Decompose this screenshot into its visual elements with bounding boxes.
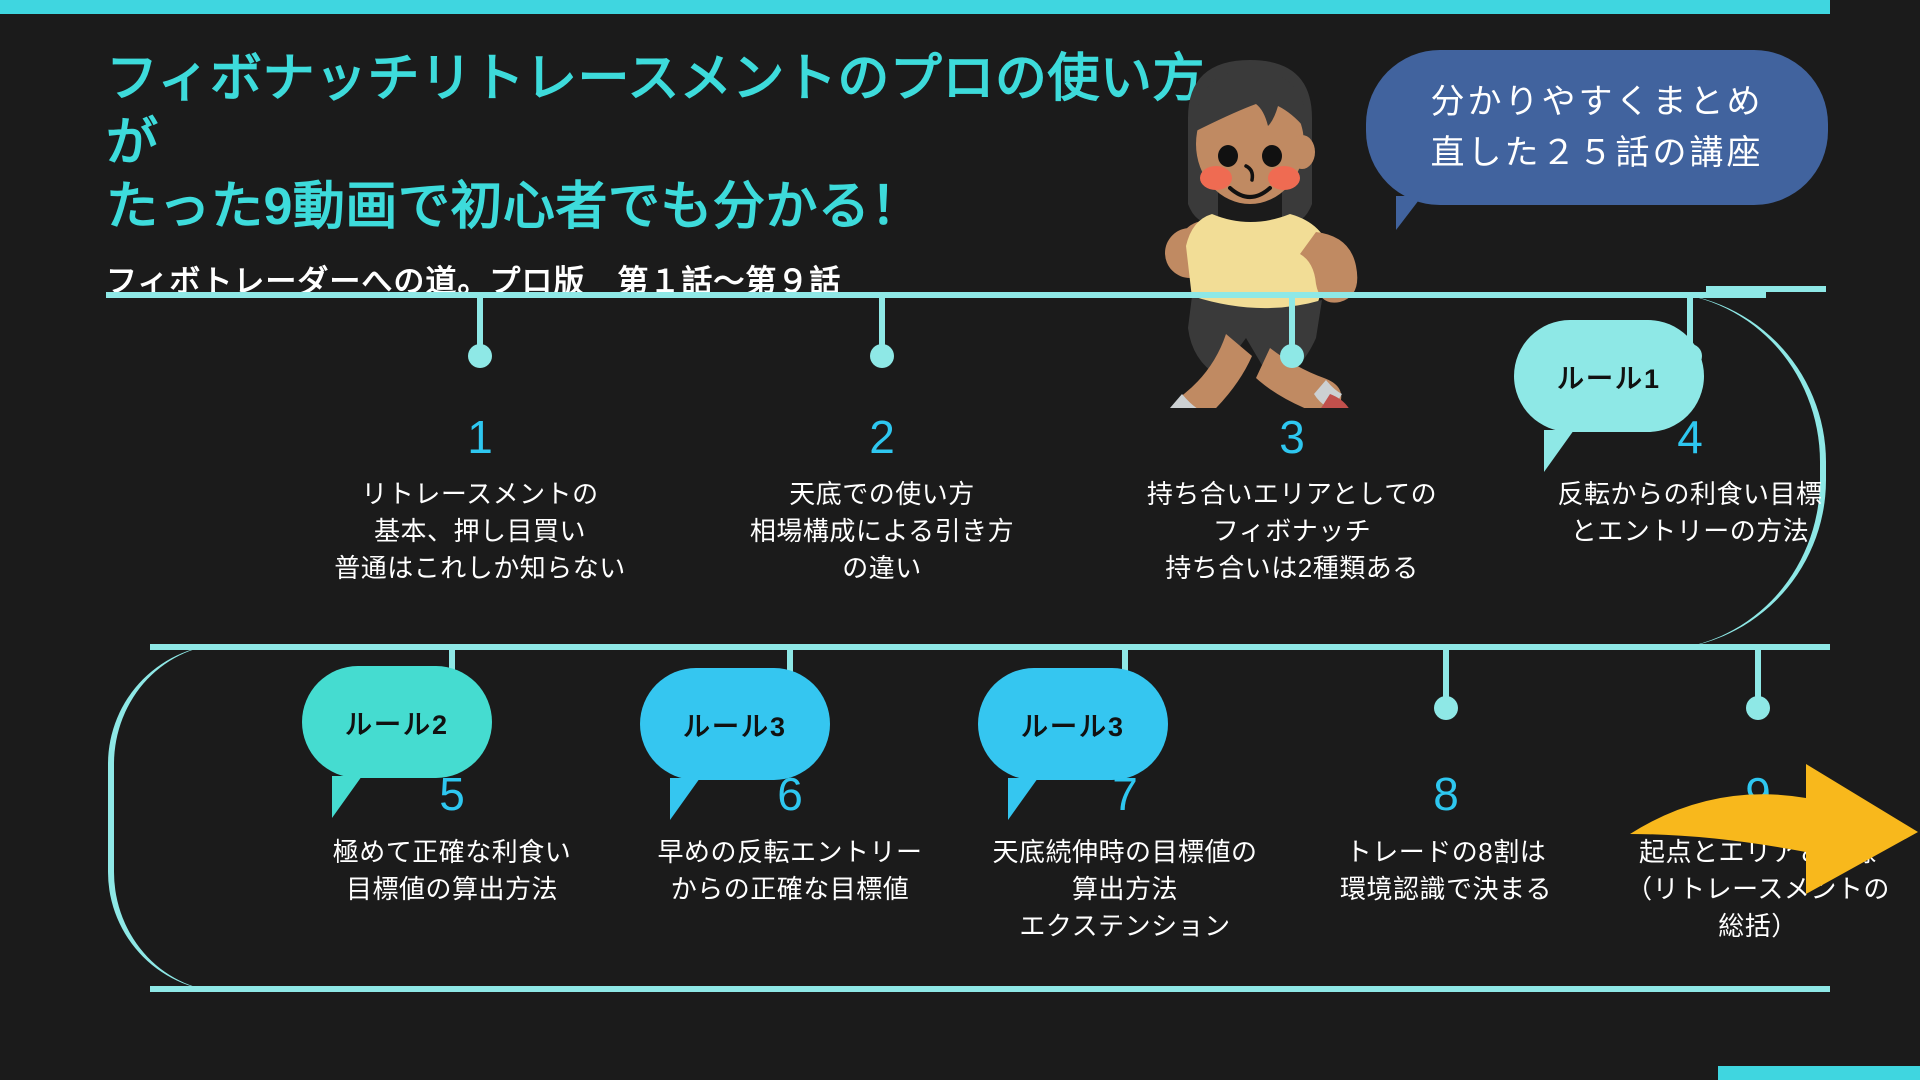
rule-bubble-label: ルール2 [345,703,449,742]
node-description: 持ち合いエリアとしての フィボナッチ 持ち合いは2種類ある [1082,476,1502,587]
blue-callout-bubble: 分かりやすくまとめ 直した２５話の講座 [1366,50,1828,205]
blue-callout-tail [1396,196,1422,230]
node-stem [1755,644,1761,704]
node-description: 天底での使い方 相場構成による引き方 の違い [672,476,1092,587]
node-number: 8 [1433,771,1459,817]
node-description: 反転からの利食い目標 とエントリーの方法 [1480,476,1900,550]
node-number: 5 [439,771,465,817]
rule-bubble-1: ルール1 [1514,320,1704,432]
node-number: 2 [869,414,895,460]
bottom-accent-bar [1718,1066,1920,1080]
top-accent-bar [0,0,1830,14]
node-dot [468,344,492,368]
rule-bubble-label: ルール3 [683,705,787,744]
node-dot [870,344,894,368]
rule-bubble-label: ルール1 [1557,357,1661,396]
timeline-rail-row2-bottom [150,986,1830,992]
rule-bubble-tail [1544,430,1574,472]
node-stem [477,292,483,352]
page-title: フィボナッチリトレースメントのプロの使い方が たった9動画で初心者でも分かる！ [106,48,1226,240]
rule-bubble-3: ルール3 [640,668,830,780]
rule-bubble-tail [332,776,362,818]
timeline-rail-row1 [106,292,1766,298]
node-stem [1443,644,1449,704]
node-stem [879,292,885,352]
node-stem [1289,292,1295,352]
node-dot [1434,696,1458,720]
curved-arrow-right-icon [1624,760,1920,910]
timeline-rail-row2-top [150,644,1830,650]
rule-bubble-label: ルール3 [1021,705,1125,744]
blue-callout-line-1: 分かりやすくまとめ [1431,77,1764,128]
node-description: リトレースメントの 基本、押し目買い 普通はこれしか知らない [270,476,690,587]
node-number: 3 [1279,414,1305,460]
rule-bubble-4: ルール3 [978,668,1168,780]
node-number: 1 [467,414,493,460]
running-girl-illustration [1120,48,1410,408]
node-dot [1746,696,1770,720]
rule-bubble-2: ルール2 [302,666,492,778]
rule-bubble-tail [670,778,700,820]
node-dot [1280,344,1304,368]
header-block: フィボナッチリトレースメントのプロの使い方が たった9動画で初心者でも分かる！ … [106,48,1226,301]
timeline-curve-left [108,644,228,992]
infographic-canvas: フィボナッチリトレースメントのプロの使い方が たった9動画で初心者でも分かる！ … [0,0,1920,1080]
rule-bubble-tail [1008,778,1038,820]
blue-callout-line-2: 直した２５話の講座 [1431,128,1764,179]
